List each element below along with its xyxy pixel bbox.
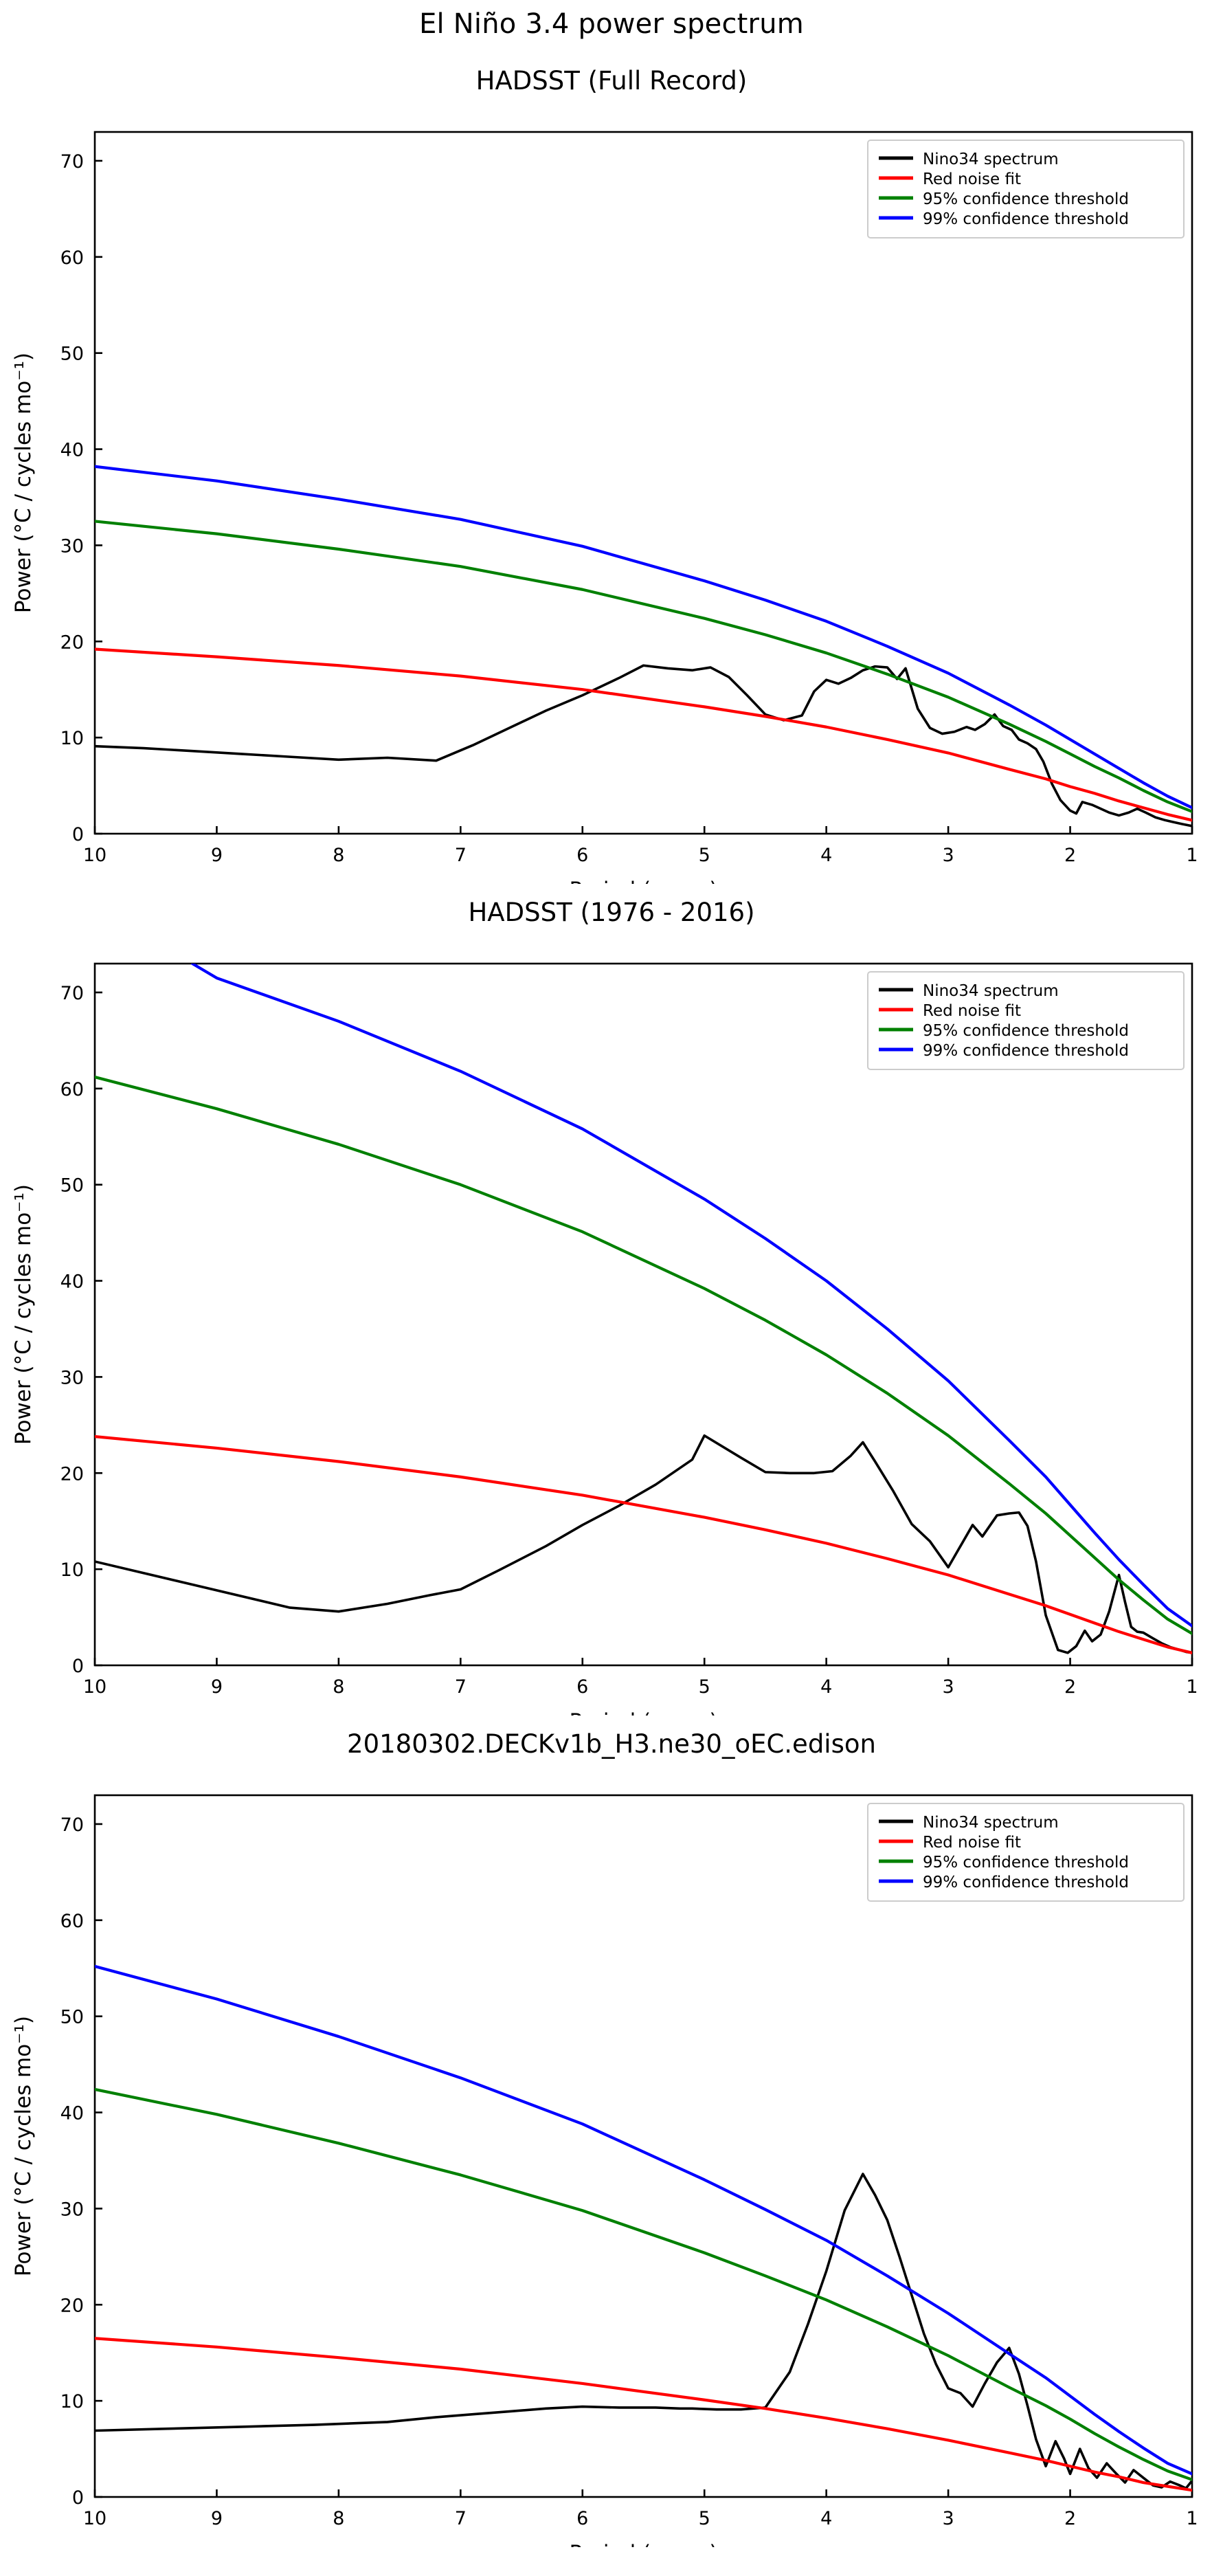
x-tick-label: 7: [455, 845, 467, 866]
x-tick-label: 2: [1064, 845, 1076, 866]
y-tick-label: 0: [72, 2487, 84, 2509]
y-tick-label: 70: [60, 983, 84, 1004]
legend-label: 99% confidence threshold: [923, 210, 1129, 228]
x-tick-label: 6: [576, 1676, 588, 1698]
y-axis-label: Power (°C / cycles mo⁻¹): [11, 1184, 36, 1445]
figure-root: El Niño 3.4 power spectrum HADSST (Full …: [0, 0, 1223, 2576]
x-tick-label: 2: [1064, 1676, 1076, 1698]
legend-label: 99% confidence threshold: [923, 1042, 1129, 1060]
x-tick-label: 9: [211, 2508, 223, 2529]
y-tick-label: 50: [60, 1175, 84, 1197]
y-axis-label: Power (°C / cycles mo⁻¹): [11, 2016, 36, 2276]
x-tick-label: 8: [333, 845, 344, 866]
legend-label: Red noise fit: [923, 1834, 1021, 1852]
y-tick-label: 0: [72, 824, 84, 845]
y-tick-label: 10: [60, 1559, 84, 1581]
x-tick-label: 5: [699, 845, 710, 866]
x-tick-label: 4: [820, 1676, 832, 1698]
y-tick-label: 30: [60, 1367, 84, 1388]
legend-label: 95% confidence threshold: [923, 1854, 1129, 1872]
x-tick-label: 7: [455, 2508, 467, 2529]
x-tick-label: 5: [699, 1676, 710, 1698]
chart-panel-model-deckv1b: 20180302.DECKv1b_H3.ne30_oEC.edison 1098…: [0, 1729, 1223, 2554]
x-tick-label: 1: [1186, 845, 1198, 866]
chart-canvas: 10987654321010203040506070Period (years)…: [0, 66, 1223, 884]
x-tick-label: 10: [83, 2508, 106, 2529]
y-tick-label: 10: [60, 2391, 84, 2412]
y-tick-label: 20: [60, 1463, 84, 1485]
x-tick-label: 7: [455, 1676, 467, 1698]
chart-canvas: 10987654321010203040506070Period (years)…: [0, 898, 1223, 1716]
y-tick-label: 0: [72, 1656, 84, 1677]
y-tick-label: 10: [60, 728, 84, 749]
y-tick-label: 30: [60, 2199, 84, 2220]
x-axis-label: Period (years): [569, 878, 717, 884]
legend-label: Red noise fit: [923, 170, 1021, 188]
x-tick-label: 2: [1064, 2508, 1076, 2529]
y-tick-label: 20: [60, 2295, 84, 2316]
figure-suptitle: El Niño 3.4 power spectrum: [0, 8, 1223, 40]
legend-label: 99% confidence threshold: [923, 1874, 1129, 1891]
y-tick-label: 30: [60, 535, 84, 557]
chart-panel-hadsst-full: HADSST (Full Record) 1098765432101020304…: [0, 66, 1223, 884]
x-tick-label: 9: [211, 1676, 223, 1698]
x-tick-label: 8: [333, 1676, 344, 1698]
x-tick-label: 9: [211, 845, 223, 866]
legend-label: Nino34 spectrum: [923, 1814, 1059, 1832]
legend-label: 95% confidence threshold: [923, 190, 1129, 208]
x-tick-label: 1: [1186, 2508, 1198, 2529]
legend-label: Red noise fit: [923, 1002, 1021, 1020]
chart-canvas: 10987654321010203040506070Period (years)…: [0, 1729, 1223, 2547]
y-tick-label: 50: [60, 2007, 84, 2028]
x-tick-label: 6: [576, 2508, 588, 2529]
y-tick-label: 40: [60, 2103, 84, 2124]
y-tick-label: 70: [60, 151, 84, 173]
y-axis-label: Power (°C / cycles mo⁻¹): [11, 353, 36, 613]
x-tick-label: 10: [83, 1676, 106, 1698]
x-tick-label: 5: [699, 2508, 710, 2529]
y-tick-label: 20: [60, 632, 84, 653]
y-tick-label: 50: [60, 344, 84, 365]
x-tick-label: 3: [943, 1676, 954, 1698]
y-tick-label: 70: [60, 1814, 84, 1836]
y-tick-label: 40: [60, 1272, 84, 1293]
x-tick-label: 1: [1186, 1676, 1198, 1698]
x-tick-label: 6: [576, 845, 588, 866]
x-tick-label: 3: [943, 845, 954, 866]
x-axis-label: Period (years): [569, 1709, 717, 1716]
y-tick-label: 60: [60, 247, 84, 269]
x-tick-label: 4: [820, 2508, 832, 2529]
legend-label: 95% confidence threshold: [923, 1022, 1129, 1040]
x-tick-label: 4: [820, 845, 832, 866]
y-tick-label: 60: [60, 1911, 84, 1932]
legend-label: Nino34 spectrum: [923, 982, 1059, 1000]
y-tick-label: 60: [60, 1079, 84, 1100]
chart-panel-hadsst-1976-2016: HADSST (1976 - 2016) 1098765432101020304…: [0, 898, 1223, 1716]
x-tick-label: 8: [333, 2508, 344, 2529]
x-tick-label: 3: [943, 2508, 954, 2529]
legend-label: Nino34 spectrum: [923, 151, 1059, 168]
x-tick-label: 10: [83, 845, 106, 866]
x-axis-label: Period (years): [569, 2541, 717, 2547]
y-tick-label: 40: [60, 440, 84, 461]
